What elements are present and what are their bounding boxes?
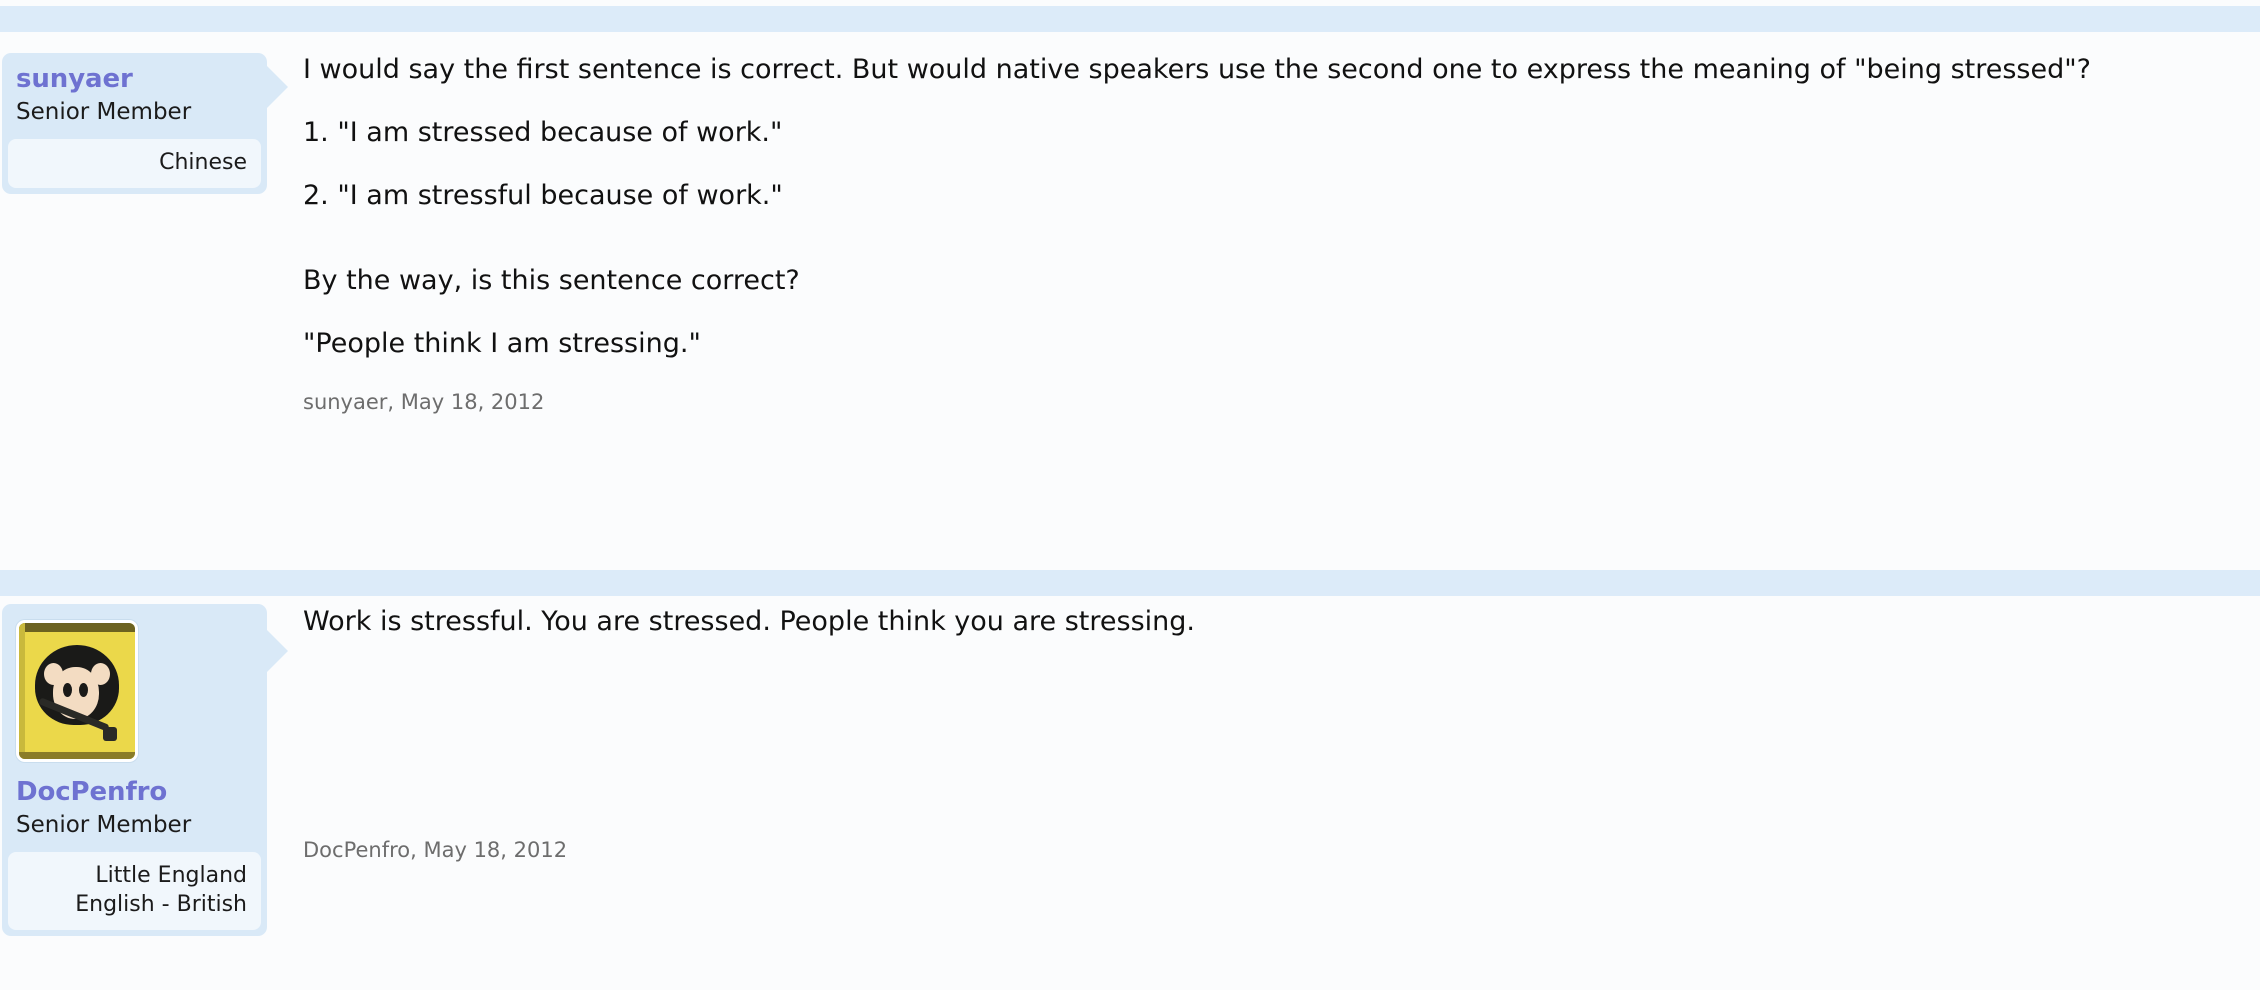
avatar[interactable] xyxy=(16,620,138,762)
username-link[interactable]: sunyaer xyxy=(16,64,253,95)
user-card-details: Chinese xyxy=(8,139,261,188)
message-paragraph: 1. "I am stressed because of work." xyxy=(303,115,2240,150)
avatar-container[interactable] xyxy=(2,604,267,766)
user-detail-language: Chinese xyxy=(22,148,247,177)
message-paragraph: By the way, is this sentence correct? xyxy=(303,263,2240,298)
post-docpenfro: DocPenfro Senior Member Little England E… xyxy=(0,604,2260,990)
user-info-card[interactable]: sunyaer Senior Member Chinese xyxy=(2,53,267,194)
user-card-details: Little England English - British xyxy=(8,852,261,930)
card-pointer-icon xyxy=(265,64,288,110)
user-detail-location: Little England xyxy=(22,861,247,890)
user-info-card[interactable]: DocPenfro Senior Member Little England E… xyxy=(2,604,267,936)
user-detail-language: English - British xyxy=(22,890,247,919)
post-message-body: I would say the first sentence is correc… xyxy=(303,52,2240,417)
user-title: Senior Member xyxy=(16,98,253,127)
cartoon-face-avatar-icon xyxy=(19,623,135,759)
message-paragraph: 2. "I am stressful because of work." xyxy=(303,178,2240,213)
user-card-main: sunyaer Senior Member xyxy=(2,53,267,139)
post-message-body: Work is stressful. You are stressed. Peo… xyxy=(303,604,2240,667)
message-paragraph: I would say the first sentence is correc… xyxy=(303,52,2240,87)
message-paragraph: "People think I am stressing." xyxy=(303,326,2240,361)
user-title: Senior Member xyxy=(16,811,253,840)
card-pointer-icon xyxy=(265,628,288,674)
message-blank-line xyxy=(303,241,2240,263)
message-paragraph: Work is stressful. You are stressed. Peo… xyxy=(303,604,2240,639)
username-link[interactable]: DocPenfro xyxy=(16,777,253,808)
post-signature: sunyaer, May 18, 2012 xyxy=(303,389,2240,416)
post-separator-bar xyxy=(0,570,2260,596)
post-signature: DocPenfro, May 18, 2012 xyxy=(303,837,567,864)
post-sunyaer: sunyaer Senior Member Chinese I would sa… xyxy=(0,40,2260,560)
user-card-main: DocPenfro Senior Member xyxy=(2,766,267,852)
forum-thread-page: sunyaer Senior Member Chinese I would sa… xyxy=(0,0,2260,990)
post-separator-bar xyxy=(0,6,2260,32)
